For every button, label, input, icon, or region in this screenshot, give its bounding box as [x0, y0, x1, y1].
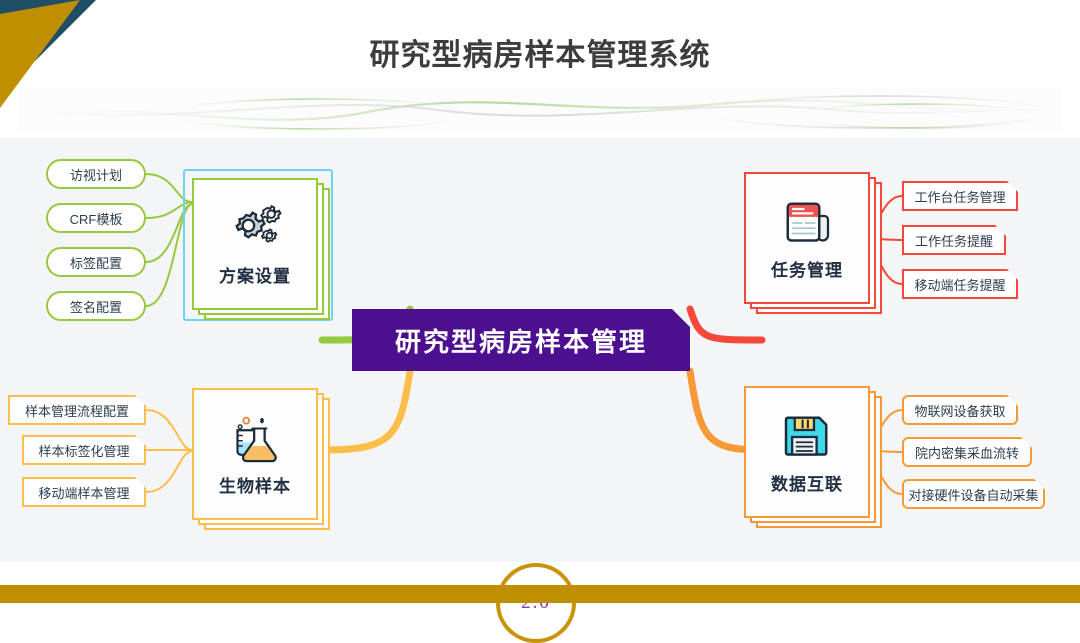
bottom-gold-band [0, 585, 1080, 603]
leaf-hardware-auto-collect[interactable]: 对接硬件设备自动采集 [902, 479, 1045, 509]
mindmap-canvas: 研究型病房样本管理 2.0 [0, 138, 1080, 562]
gears-icon [227, 202, 283, 256]
page-title: 研究型病房样本管理系统 [0, 30, 1080, 74]
center-node[interactable]: 研究型病房样本管理 [352, 309, 690, 371]
leaf-mobile-task-reminder[interactable]: 移动端任务提醒 [902, 269, 1018, 299]
card-face[interactable]: 方案设置 [192, 178, 318, 310]
card-label: 生物样本 [219, 472, 291, 497]
decorative-swirl-banner [18, 88, 1062, 130]
card-label: 任务管理 [771, 256, 843, 281]
leaf-visit-plan[interactable]: 访视计划 [46, 159, 146, 189]
card-face[interactable]: 数据互联 [744, 386, 870, 518]
card-label: 数据互联 [771, 470, 843, 495]
card-task-management[interactable]: 任务管理 [744, 172, 870, 304]
leaf-intensive-blood-flow[interactable]: 院内密集采血流转 [902, 437, 1032, 467]
version-badge: 2.0 [496, 563, 576, 643]
leaf-work-task-reminder[interactable]: 工作任务提醒 [902, 225, 1006, 255]
flask-icon [227, 412, 283, 466]
card-label: 方案设置 [219, 262, 291, 287]
leaf-label-config[interactable]: 标签配置 [46, 247, 146, 277]
card-face[interactable]: 生物样本 [192, 388, 318, 520]
floppy-disk-icon [779, 410, 835, 464]
newspaper-icon [779, 196, 835, 250]
card-face[interactable]: 任务管理 [744, 172, 870, 304]
slide-root: 研究型病房样本管理系统 [0, 0, 1080, 603]
card-protocol-settings[interactable]: 方案设置 [192, 178, 318, 310]
leaf-mobile-sample-mgmt[interactable]: 移动端样本管理 [22, 477, 146, 507]
leaf-sample-labeling[interactable]: 样本标签化管理 [22, 435, 146, 465]
card-biological-sample[interactable]: 生物样本 [192, 388, 318, 520]
leaf-iot-device-acquire[interactable]: 物联网设备获取 [902, 395, 1018, 425]
leaf-workbench-task-mgmt[interactable]: 工作台任务管理 [902, 181, 1018, 211]
leaf-signature-config[interactable]: 签名配置 [46, 291, 146, 321]
leaf-sample-flow-config[interactable]: 样本管理流程配置 [8, 395, 146, 425]
leaf-crf-template[interactable]: CRF模板 [46, 203, 146, 233]
card-data-interconnection[interactable]: 数据互联 [744, 386, 870, 518]
mindmap-panel: 研究型病房样本管理 2.0 [0, 138, 1080, 562]
